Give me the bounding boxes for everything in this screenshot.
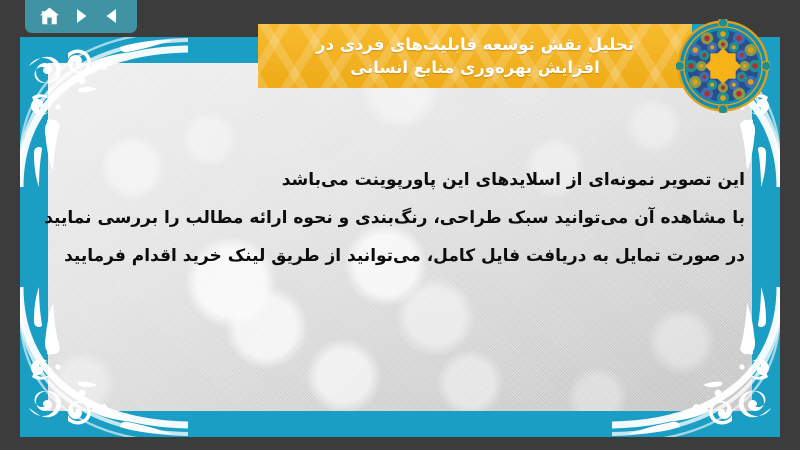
previous-arrow-icon	[103, 7, 121, 25]
slide-title-banner: تحلیل نقش توسعه قابلیت‌های فردی در افزای…	[258, 24, 710, 88]
next-arrow-icon	[72, 7, 90, 25]
persian-medallion-icon	[676, 19, 770, 113]
body-line: این تصویر نمونه‌ای از اسلایدهای این پاور…	[50, 172, 745, 189]
slide-viewer: این تصویر نمونه‌ای از اسلایدهای این پاور…	[0, 0, 800, 450]
slide-body-text: این تصویر نمونه‌ای از اسلایدهای این پاور…	[50, 172, 745, 265]
page-title: تحلیل نقش توسعه قابلیت‌های فردی در افزای…	[306, 33, 644, 80]
home-icon	[39, 6, 60, 26]
body-line: با مشاهده آن می‌توانید سبک طراحی، رنگ‌بن…	[50, 210, 745, 227]
previous-slide-button[interactable]	[99, 3, 125, 29]
presentation-slide: این تصویر نمونه‌ای از اسلایدهای این پاور…	[20, 37, 780, 437]
next-slide-button[interactable]	[68, 3, 94, 29]
home-button[interactable]	[37, 3, 63, 29]
banner-body: تحلیل نقش توسعه قابلیت‌های فردی در افزای…	[258, 24, 692, 88]
body-line: در صورت تمایل به دریافت فایل کامل، می‌تو…	[50, 248, 745, 265]
slide-navigation	[25, 0, 137, 33]
